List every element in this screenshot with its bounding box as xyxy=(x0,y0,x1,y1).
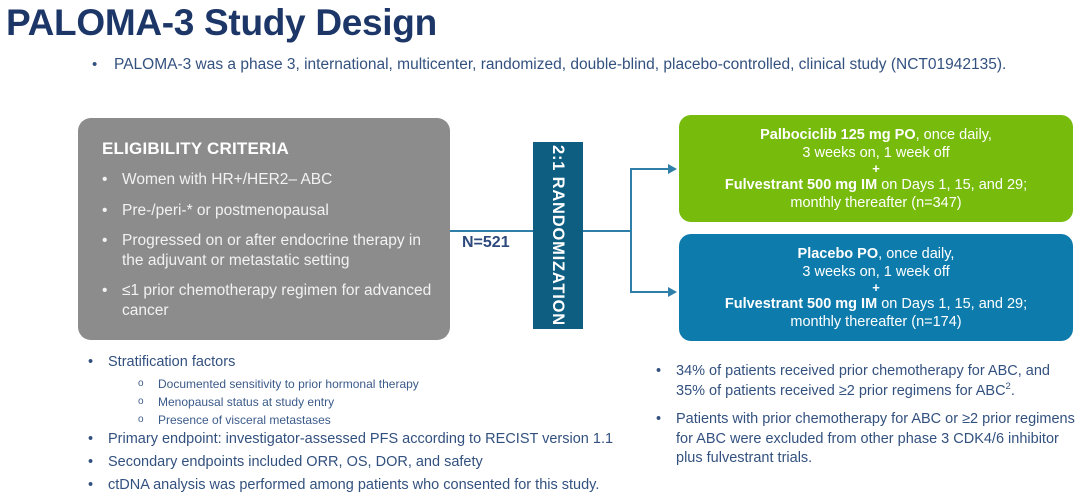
exclusion-note-text: Patients with prior chemotherapy for ABC… xyxy=(676,411,1075,466)
page-title: PALOMA-3 Study Design xyxy=(6,2,437,44)
prior-chemo-stat-text: 34% of patients received prior chemother… xyxy=(676,363,1050,399)
arm-drug1-detail: , once daily, xyxy=(916,127,992,143)
list-item: o Menopausal status at study entry xyxy=(80,393,660,411)
connector-split-vertical xyxy=(630,168,632,293)
connector-to-experimental-arm xyxy=(630,168,670,170)
bullet-glyph: • xyxy=(88,429,93,450)
arm-schedule2: monthly thereafter (n=174) xyxy=(790,313,961,331)
eligibility-criteria-box: ELIGIBILITY CRITERIA • Women with HR+/HE… xyxy=(78,118,450,340)
randomization-box: 2:1 RANDOMIZATION xyxy=(533,142,583,329)
eligibility-item-text: ≤1 prior chemotherapy regimen for advanc… xyxy=(122,282,431,319)
secondary-endpoints-text: Secondary endpoints included ORR, OS, DO… xyxy=(108,454,483,470)
list-item: o Presence of visceral metastases xyxy=(80,411,660,429)
arm-drug1-detail: , once daily, xyxy=(878,246,954,262)
sub-bullet-glyph: o xyxy=(138,411,144,429)
eligibility-item-text: Pre-/peri-* or postmenopausal xyxy=(122,202,329,219)
arm-drug2-name: Fulvestrant 500 mg IM xyxy=(725,296,877,312)
bullet-glyph: • xyxy=(92,54,97,75)
arm-plus-sign: + xyxy=(872,162,880,176)
arm-drug1-name: Palbociclib 125 mg PO xyxy=(760,127,916,143)
arm-drug2-detail: on Days 1, 15, and 29; xyxy=(877,296,1027,312)
arrow-head-experimental-icon xyxy=(668,164,677,174)
intro-bullet-text: PALOMA-3 was a phase 3, international, m… xyxy=(114,54,1022,75)
bullet-glyph: • xyxy=(656,410,661,430)
list-item: o Documented sensitivity to prior hormon… xyxy=(80,375,660,393)
bullet-glyph: • xyxy=(102,201,107,221)
randomization-label: 2:1 RANDOMIZATION xyxy=(533,142,583,329)
arm-plus-sign: + xyxy=(872,281,880,295)
bullet-glyph: • xyxy=(656,362,661,382)
bullet-glyph: • xyxy=(102,281,107,301)
treatment-arm-experimental: Palbociclib 125 mg PO, once daily, 3 wee… xyxy=(679,115,1073,222)
right-notes-list: • 34% of patients received prior chemoth… xyxy=(652,362,1080,478)
sub-bullet-glyph: o xyxy=(138,375,144,393)
footnote-strip xyxy=(0,494,1080,502)
bullet-glyph: • xyxy=(102,170,107,190)
connector-randomization-out xyxy=(583,230,632,232)
primary-endpoint-text: Primary endpoint: investigator-assessed … xyxy=(108,431,613,447)
eligibility-list: • Women with HR+/HER2– ABC • Pre-/peri-*… xyxy=(100,170,436,331)
arm-schedule1: 3 weeks on, 1 week off xyxy=(802,263,949,281)
bullet-glyph: • xyxy=(102,231,107,251)
list-item: • Women with HR+/HER2– ABC xyxy=(100,170,436,190)
left-notes-list: • Stratification factors o Documented se… xyxy=(80,352,660,498)
arm-schedule2: monthly thereafter (n=347) xyxy=(790,194,961,212)
bullet-glyph: • xyxy=(88,352,93,373)
arm-drug2-line: Fulvestrant 500 mg IM on Days 1, 15, and… xyxy=(725,176,1027,194)
list-item: • 34% of patients received prior chemoth… xyxy=(652,362,1080,401)
arrow-head-control-icon xyxy=(668,287,677,297)
list-item: • Patients with prior chemotherapy for A… xyxy=(652,410,1080,469)
arm-drug1-line: Palbociclib 125 mg PO, once daily, xyxy=(760,126,992,144)
bullet-glyph: • xyxy=(88,475,93,496)
connector-to-control-arm xyxy=(630,291,670,293)
stratification-heading: Stratification factors xyxy=(108,354,235,370)
arm-drug2-name: Fulvestrant 500 mg IM xyxy=(725,177,877,193)
arm-drug1-line: Placebo PO, once daily, xyxy=(798,245,955,263)
stratification-factor-text: Menopausal status at study entry xyxy=(158,395,334,409)
stratification-factor-text: Presence of visceral metastases xyxy=(158,413,331,427)
arm-schedule1: 3 weeks on, 1 week off xyxy=(802,144,949,162)
list-item: • Secondary endpoints included ORR, OS, … xyxy=(80,452,660,473)
list-item: • Progressed on or after endocrine thera… xyxy=(100,231,436,270)
list-item: • Primary endpoint: investigator-assesse… xyxy=(80,429,660,450)
list-item: • ≤1 prior chemotherapy regimen for adva… xyxy=(100,281,436,320)
bullet-glyph: • xyxy=(88,452,93,473)
sub-bullet-glyph: o xyxy=(138,393,144,411)
list-item: • ctDNA analysis was performed among pat… xyxy=(80,475,660,496)
intro-bullet: • PALOMA-3 was a phase 3, international,… xyxy=(92,54,1022,75)
arm-drug1-name: Placebo PO xyxy=(798,246,879,262)
arm-drug2-line: Fulvestrant 500 mg IM on Days 1, 15, and… xyxy=(725,295,1027,313)
list-item: • Stratification factors xyxy=(80,352,660,373)
ctdna-text: ctDNA analysis was performed among patie… xyxy=(108,477,599,493)
eligibility-item-text: Progressed on or after endocrine therapy… xyxy=(122,232,421,269)
stratification-factor-text: Documented sensitivity to prior hormonal… xyxy=(158,377,419,391)
eligibility-item-text: Women with HR+/HER2– ABC xyxy=(122,171,332,188)
list-item: • Pre-/peri-* or postmenopausal xyxy=(100,201,436,221)
connector-enrollment-line xyxy=(450,230,535,232)
arm-drug2-detail: on Days 1, 15, and 29; xyxy=(877,177,1027,193)
prior-chemo-stat-period: . xyxy=(1011,383,1015,399)
treatment-arm-control: Placebo PO, once daily, 3 weeks on, 1 we… xyxy=(679,234,1073,341)
eligibility-heading: ELIGIBILITY CRITERIA xyxy=(102,139,289,159)
enrollment-count-label: N=521 xyxy=(462,234,510,252)
